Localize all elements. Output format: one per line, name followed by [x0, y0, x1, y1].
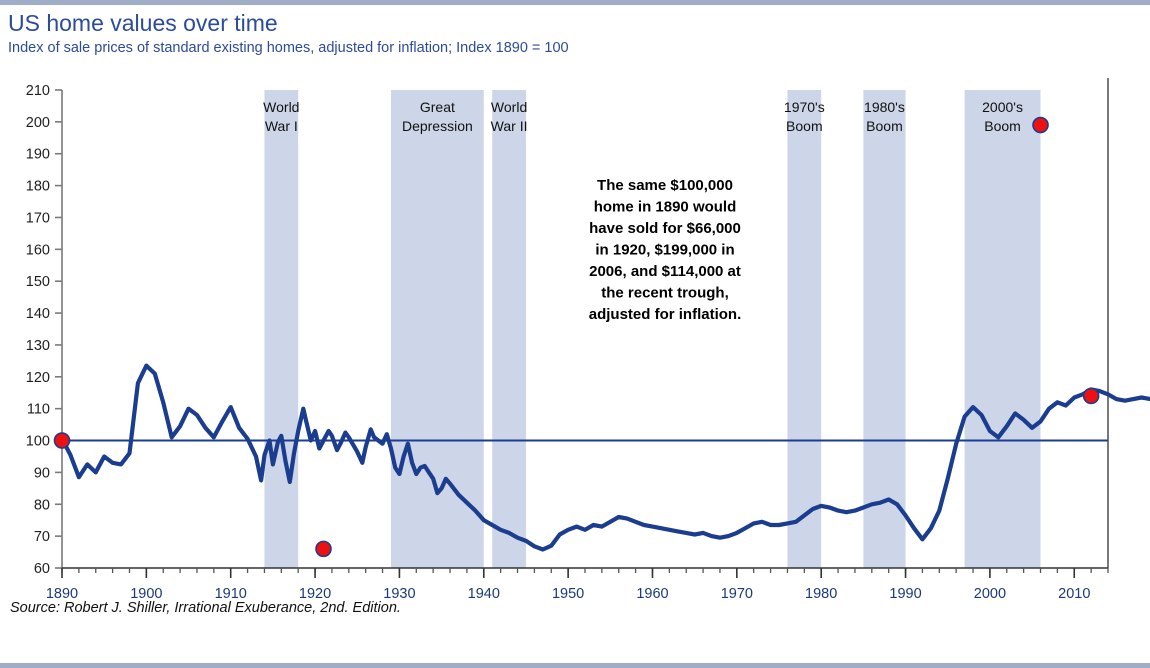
band-6: [965, 90, 1041, 568]
y-tick-label: 70: [34, 529, 50, 545]
x-tick-label: 1900: [130, 586, 162, 598]
band-label: World: [263, 99, 299, 115]
band-label: War I: [265, 118, 298, 134]
band-label: War II: [491, 118, 528, 134]
page-subtitle: Index of sale prices of standard existin…: [8, 38, 1128, 58]
y-tick-label: 140: [26, 306, 50, 322]
band-4: [787, 90, 821, 568]
x-tick-label: 1930: [383, 586, 415, 598]
y-tick-label: 170: [26, 210, 50, 226]
band-label: 1970's: [784, 99, 825, 115]
line-chart: WorldWar IGreatDepressionWorldWar II1970…: [0, 78, 1150, 598]
y-tick-label: 100: [26, 434, 50, 450]
x-tick-label: 1970: [721, 586, 753, 598]
y-tick-label: 110: [27, 402, 50, 418]
x-tick-label: 1940: [468, 586, 500, 598]
annotation-line: 2006, and $114,000 at: [589, 263, 741, 280]
x-tick-label: 1950: [552, 586, 584, 598]
y-tick-label: 210: [26, 83, 50, 99]
annotation-line: have sold for $66,000: [589, 220, 741, 237]
y-tick-label: 190: [26, 147, 50, 163]
band-label: 2000's: [982, 99, 1023, 115]
y-tick-label: 60: [34, 561, 50, 577]
band-label: Great: [420, 99, 455, 115]
x-tick-label: 1920: [299, 586, 331, 598]
x-tick-label: 1990: [889, 586, 921, 598]
annotation-line: home in 1890 would: [594, 199, 737, 216]
y-tick-label: 120: [26, 370, 50, 386]
source-note: Source: Robert J. Shiller, Irrational Ex…: [10, 600, 401, 616]
data-point-marker: [55, 433, 70, 448]
band-label: Boom: [866, 118, 903, 134]
x-tick-label: 2000: [974, 586, 1006, 598]
band-label: Boom: [984, 118, 1021, 134]
y-tick-label: 130: [26, 338, 50, 354]
band-3: [492, 90, 526, 568]
y-tick-label: 150: [26, 274, 50, 290]
band-label: World: [491, 99, 527, 115]
band-5: [863, 90, 905, 568]
x-tick-label: 2010: [1058, 586, 1090, 598]
chart-header: US home values over time Index of sale p…: [8, 10, 1128, 58]
band-2: [391, 90, 484, 568]
x-tick-label: 1890: [46, 586, 78, 598]
band-1: [264, 90, 298, 568]
chart-page: US home values over time Index of sale p…: [0, 0, 1150, 668]
band-label: 1980's: [864, 99, 905, 115]
y-tick-label: 80: [34, 497, 50, 513]
chart-area: WorldWar IGreatDepressionWorldWar II1970…: [0, 78, 1150, 598]
page-title: US home values over time: [8, 10, 1128, 36]
annotation-line: The same $100,000: [597, 177, 733, 194]
top-rule: [0, 0, 1150, 5]
annotation-line: adjusted for inflation.: [589, 306, 742, 323]
bottom-rule: [0, 663, 1150, 668]
x-tick-label: 1960: [636, 586, 668, 598]
x-tick-label: 1910: [215, 586, 247, 598]
data-point-marker: [1033, 118, 1048, 133]
band-label: Boom: [786, 118, 823, 134]
annotation-line: in 1920, $199,000 in: [595, 242, 734, 259]
y-tick-label: 90: [34, 465, 50, 481]
y-tick-label: 160: [26, 242, 50, 258]
y-tick-label: 200: [26, 115, 50, 131]
y-tick-label: 180: [26, 179, 50, 195]
data-point-marker: [316, 541, 331, 556]
band-label: Depression: [402, 118, 473, 134]
x-tick-label: 1980: [805, 586, 837, 598]
data-point-marker: [1084, 388, 1099, 403]
annotation-line: the recent trough,: [601, 285, 729, 302]
